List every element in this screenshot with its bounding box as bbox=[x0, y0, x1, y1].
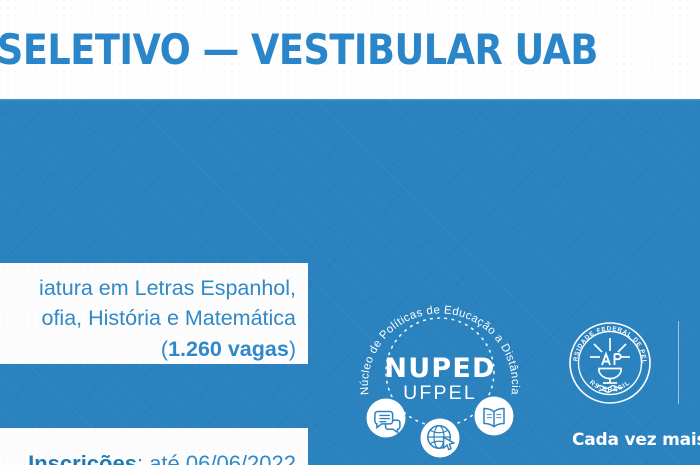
nuped-logo: Núcleo de Políticas de Educação a Distân… bbox=[355, 294, 525, 459]
nuped-wordmark: NUPED bbox=[384, 353, 495, 384]
inscricoes-separator: : bbox=[137, 451, 149, 465]
globe-cursor-icon bbox=[421, 419, 460, 458]
course-line-1: iatura em Letras Espanhol, bbox=[0, 273, 296, 303]
uab-vestibular-banner: SSO SELETIVO — VESTIBULAR UAB iatura em … bbox=[0, 0, 700, 465]
open-book-icon bbox=[475, 397, 514, 436]
inscricoes-text: Inscrições: até 06/06/2022 bbox=[28, 450, 296, 465]
ufpel-seal-logo: UNIVERSIDADE FEDERAL DE PELOTAS RS-BRASI… bbox=[568, 321, 652, 405]
seal-divider bbox=[678, 321, 679, 404]
inscricoes-label: Inscrições bbox=[28, 451, 137, 465]
page-title: SSO SELETIVO — VESTIBULAR UAB bbox=[0, 26, 598, 74]
nuped-subwordmark: UFPEL bbox=[403, 382, 477, 404]
course-line-2: ofia, História e Matemática bbox=[0, 303, 296, 333]
speech-bubbles-icon bbox=[367, 399, 406, 438]
inscricoes-value: até 06/06/2022 bbox=[149, 451, 296, 465]
tagline-text: Cada vez mais bbox=[572, 429, 700, 451]
header-band: SSO SELETIVO — VESTIBULAR UAB bbox=[0, 0, 700, 99]
body-top-edge bbox=[0, 99, 700, 101]
course-vagas-line: (1.260 vagas) bbox=[0, 333, 296, 365]
vagas-count: 1.260 vagas bbox=[168, 337, 289, 361]
inscricoes-callout-box: Inscrições: até 06/06/2022 bbox=[0, 428, 308, 465]
vagas-paren-open: ( bbox=[161, 337, 168, 361]
banner-body: iatura em Letras Espanhol, ofia, Históri… bbox=[0, 99, 700, 465]
vagas-paren-close: ) bbox=[289, 337, 296, 361]
course-callout-box: iatura em Letras Espanhol, ofia, Históri… bbox=[0, 263, 308, 364]
